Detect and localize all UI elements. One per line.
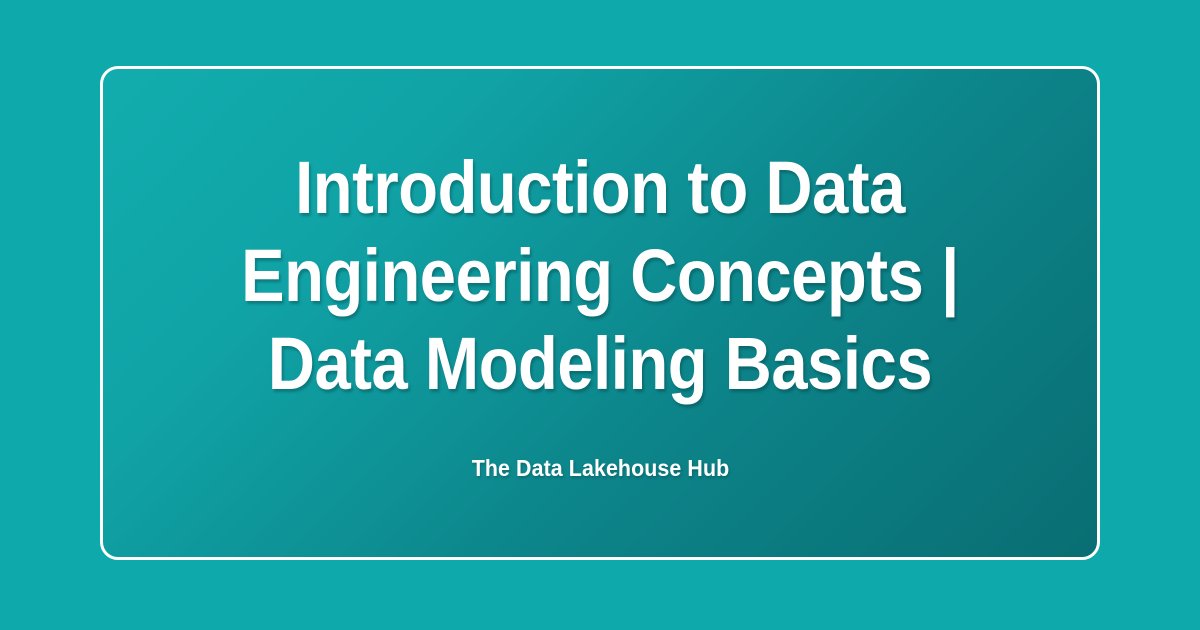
title-line-1: Introduction to Data	[193, 144, 1008, 232]
title-line-3: Data Modeling Basics	[193, 320, 1008, 408]
page-title: Introduction to Data Engineering Concept…	[103, 144, 1097, 408]
content-card: Introduction to Data Engineering Concept…	[100, 66, 1100, 560]
title-line-2: Engineering Concepts |	[193, 232, 1008, 320]
site-name-subtitle: The Data Lakehouse Hub	[471, 454, 729, 482]
social-card-canvas: Introduction to Data Engineering Concept…	[0, 0, 1200, 630]
